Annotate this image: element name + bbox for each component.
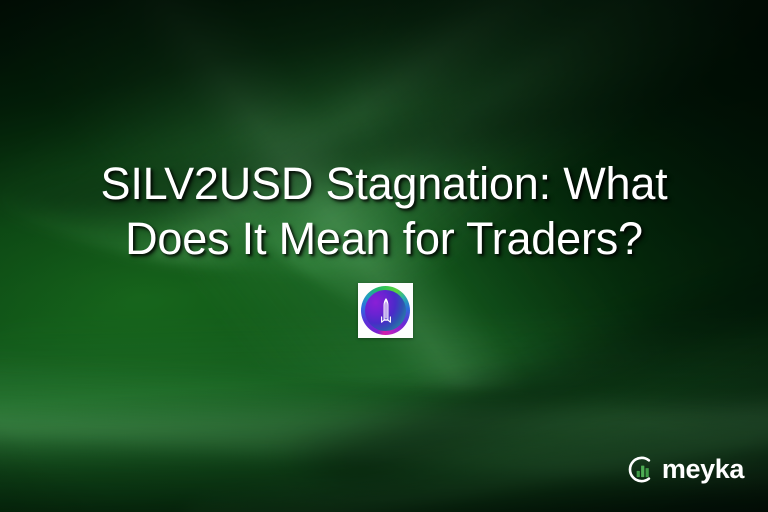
trident-mark-icon [371, 296, 401, 326]
silv2usd-token-icon [361, 286, 410, 335]
page-title: SILV2USD Stagnation: What Does It Mean f… [0, 156, 768, 266]
meyka-watermark: meyka [625, 453, 744, 486]
social-banner: SILV2USD Stagnation: What Does It Mean f… [0, 0, 768, 512]
meyka-brand-text: meyka [662, 456, 744, 483]
center-logo-tile [358, 283, 413, 338]
meyka-ring-barchart-icon [625, 453, 658, 486]
